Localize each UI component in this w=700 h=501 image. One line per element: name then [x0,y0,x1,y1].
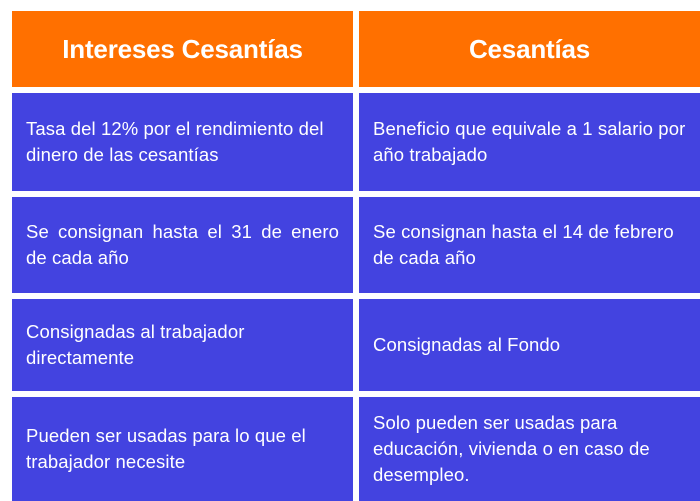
cell-text-row2-left: Se consignan hasta el 31 de enero de cad… [26,219,339,272]
column-header-intereses-cesantias: Intereses Cesantías [62,35,302,64]
table-row: Pueden ser usadas para lo que el trabaja… [12,397,353,501]
table-row: Se consignan hasta el 14 de febrero de c… [359,197,700,293]
table-row: Beneficio que equivale a 1 salario por a… [359,93,700,191]
table-row: Consignadas al Fondo [359,299,700,391]
cell-text-row3-left: Consignadas al trabajador directamente [26,319,339,372]
cell-text-row2-right: Se consignan hasta el 14 de febrero de c… [373,219,686,272]
table-row: Consignadas al trabajador directamente [12,299,353,391]
table-header-cell-right: Cesantías [359,11,700,87]
table-row: Tasa del 12% por el rendimiento del dine… [12,93,353,191]
table-header-cell-left: Intereses Cesantías [12,11,353,87]
cell-text-row3-right: Consignadas al Fondo [373,332,686,358]
cell-text-row1-left: Tasa del 12% por el rendimiento del dine… [26,116,339,169]
cell-text-row4-left: Pueden ser usadas para lo que el trabaja… [26,423,339,476]
table-row: Se consignan hasta el 31 de enero de cad… [12,197,353,293]
table-row: Solo pueden ser usadas para educación, v… [359,397,700,501]
cell-text-row4-right: Solo pueden ser usadas para educación, v… [373,410,686,489]
comparison-table: Intereses Cesantías Cesantías Tasa del 1… [12,11,688,487]
column-header-cesantias: Cesantías [469,35,590,64]
cell-text-row1-right: Beneficio que equivale a 1 salario por a… [373,116,686,169]
